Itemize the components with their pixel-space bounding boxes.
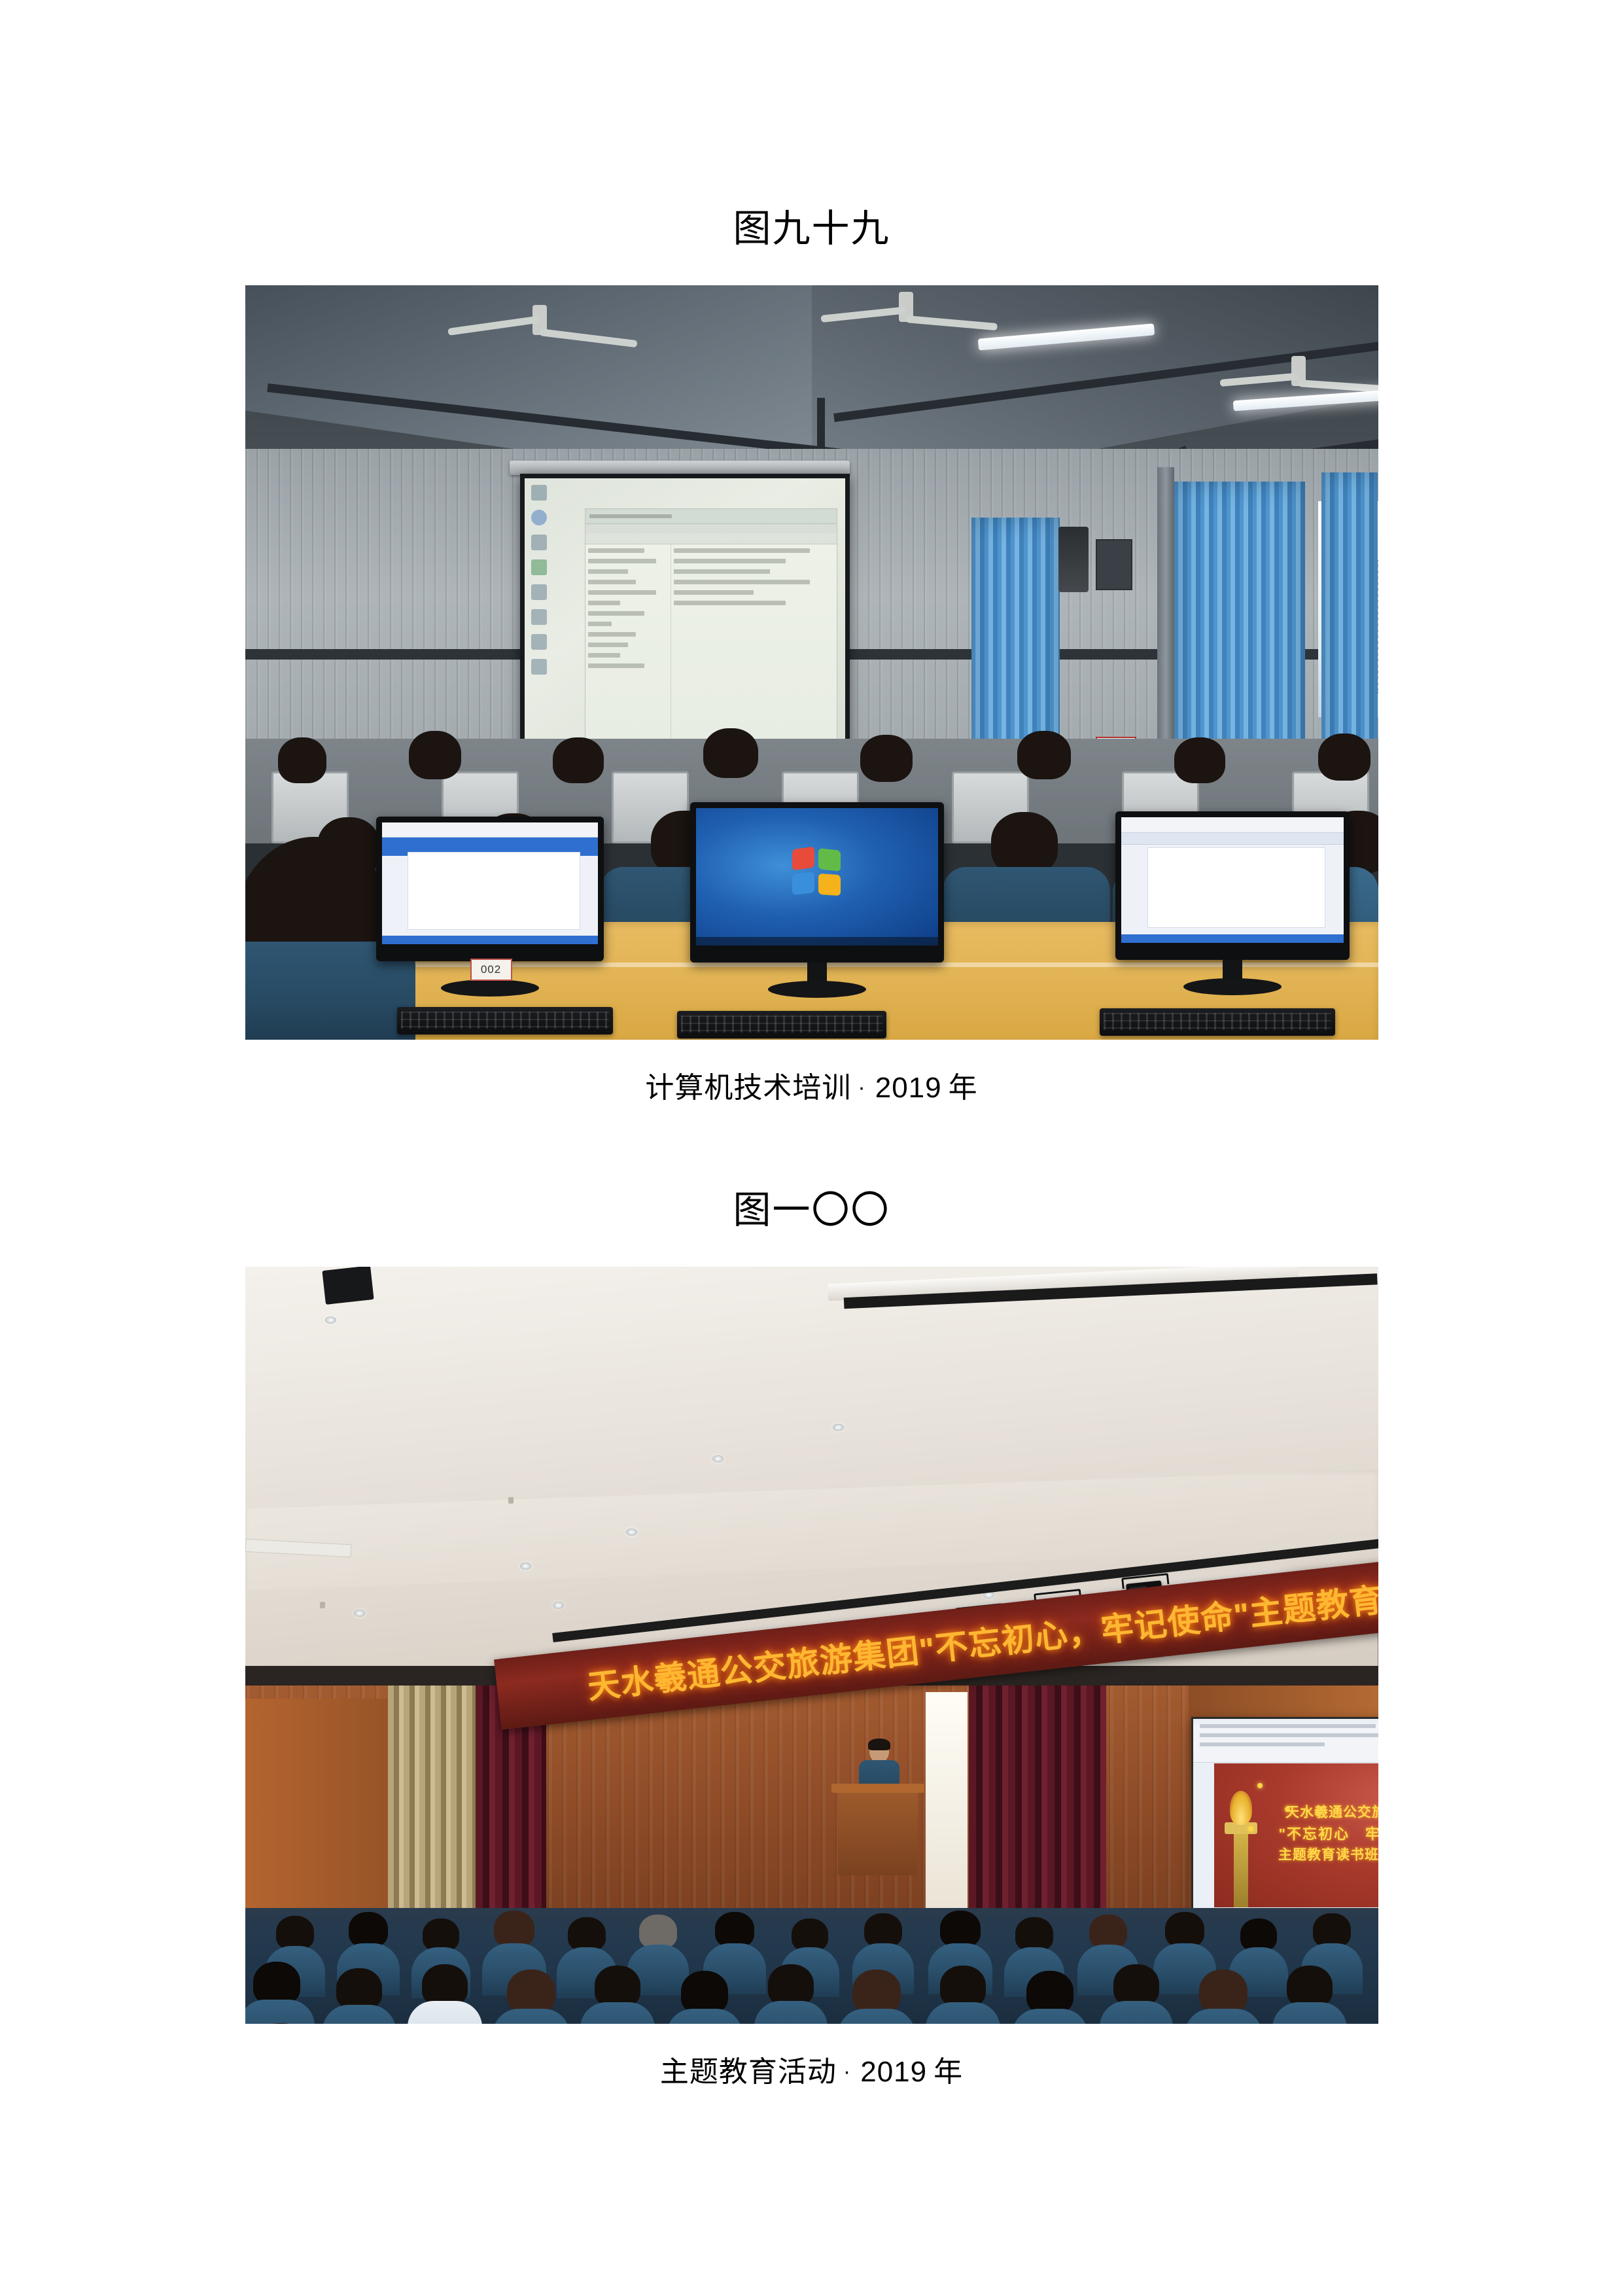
lcd-monitor bbox=[1115, 811, 1350, 960]
caption-title-99: 计算机技术培训 bbox=[645, 1072, 851, 1104]
slide-line-3: 主题教育读书班专题讲座 bbox=[1251, 1846, 1378, 1865]
windows-logo-icon bbox=[792, 848, 842, 895]
caption-separator-99: · bbox=[858, 1075, 865, 1100]
audience-member bbox=[1012, 1971, 1088, 2024]
audience-member bbox=[754, 1964, 828, 2024]
lcd-monitor: 002 bbox=[376, 817, 604, 961]
window-toolbar bbox=[585, 533, 837, 544]
sprinkler-head-icon bbox=[508, 1497, 514, 1504]
figure-block-99: 图九十九 bbox=[0, 196, 1623, 1107]
trainee-head bbox=[1174, 737, 1225, 783]
monitor-number-label: 002 bbox=[470, 959, 512, 981]
downlight-icon bbox=[833, 1424, 844, 1431]
keyboard bbox=[397, 1007, 613, 1034]
trainee-head bbox=[1017, 731, 1071, 779]
trainee-head bbox=[991, 812, 1058, 875]
ceiling-fan-icon bbox=[808, 292, 1004, 338]
audience-member bbox=[493, 1969, 570, 2024]
window-menubar bbox=[585, 524, 837, 533]
sprinkler-head-icon bbox=[320, 1602, 325, 1608]
theme-education-activity-photo: 天水羲通公交旅游集团"不忘初心，牢记使命"主题教育活动 bbox=[245, 1267, 1378, 2024]
downlight-icon bbox=[354, 1610, 365, 1617]
ceiling-fan-icon bbox=[442, 305, 638, 357]
keyboard bbox=[1100, 1008, 1335, 1036]
photo-2-scene: 天水羲通公交旅游集团"不忘初心，牢记使命"主题教育活动 bbox=[245, 1267, 1378, 2024]
trainee-head bbox=[860, 735, 913, 782]
lcd-monitor bbox=[690, 802, 944, 963]
audience-member bbox=[1272, 1966, 1347, 2024]
figure-caption-99: 计算机技术培训·2019年 bbox=[0, 1069, 1623, 1107]
wall-speaker bbox=[1058, 527, 1089, 592]
downlight-icon bbox=[712, 1455, 724, 1462]
trainee-head bbox=[409, 731, 461, 779]
caption-year-100: 2019 bbox=[860, 2056, 927, 2088]
figure-block-100: 图一〇〇 bbox=[0, 1178, 1623, 2091]
caption-separator-100: · bbox=[843, 2059, 851, 2084]
figure-caption-100: 主题教育活动·2019年 bbox=[0, 2053, 1623, 2091]
audience-member bbox=[323, 1968, 396, 2024]
keyboard bbox=[677, 1011, 886, 1038]
audience-member bbox=[245, 2023, 330, 2024]
slide-line-1: 天水羲通公交旅游集团 bbox=[1251, 1803, 1378, 1822]
slide-line-2: "不忘初心 牢记使命" bbox=[1251, 1824, 1378, 1843]
monitor-screen bbox=[1121, 817, 1344, 943]
caption-title-100: 主题教育活动 bbox=[660, 2056, 837, 2088]
audience-member bbox=[580, 1966, 655, 2024]
audience-member bbox=[1185, 1969, 1262, 2024]
audience-member bbox=[1100, 1964, 1173, 2024]
monitor-screen-windows7 bbox=[696, 808, 938, 945]
monitor-screen bbox=[382, 822, 598, 944]
downlight-icon bbox=[626, 1528, 637, 1536]
wall-equipment-box bbox=[1096, 539, 1132, 590]
downlight-icon bbox=[520, 1563, 531, 1570]
computer-technology-training-photo: 002 bbox=[245, 285, 1378, 1040]
podium bbox=[838, 1790, 918, 1875]
caption-unit-100: 年 bbox=[934, 2056, 963, 2088]
trainee-head bbox=[1318, 733, 1370, 781]
star-sparkle-icon bbox=[1257, 1783, 1263, 1788]
audience-member bbox=[408, 1964, 482, 2024]
figure-heading-99: 图九十九 bbox=[0, 196, 1623, 262]
figure-heading-100: 图一〇〇 bbox=[0, 1178, 1623, 1243]
audience-member bbox=[926, 1966, 1000, 2024]
audience-member bbox=[667, 1971, 742, 2024]
downlight-icon bbox=[325, 1316, 336, 1324]
audience-seating bbox=[245, 1908, 1378, 2024]
caption-unit-99: 年 bbox=[949, 1072, 978, 1104]
audience-member bbox=[245, 1962, 315, 2024]
trainee-head bbox=[703, 728, 758, 778]
party-education-slide: 天水羲通公交旅游集团 "不忘初心 牢记使命" 主题教育读书班专题讲座 bbox=[1214, 1763, 1378, 1907]
presentation-toolbar bbox=[1193, 1724, 1378, 1763]
document-page: 图九十九 bbox=[0, 0, 1623, 2296]
photo-1-scene: 002 bbox=[245, 285, 1378, 1040]
downlight-icon bbox=[553, 1602, 564, 1609]
projection-screen: 天水羲通公交旅游集团 "不忘初心 牢记使命" 主题教育读书班专题讲座 bbox=[1191, 1717, 1378, 1929]
ceiling-projector bbox=[322, 1267, 374, 1305]
audience-member bbox=[838, 1969, 915, 2024]
caption-year-99: 2019 bbox=[875, 1072, 942, 1104]
projector-screen-housing bbox=[510, 461, 850, 475]
window-titlebar bbox=[585, 509, 837, 524]
slide-text-block: 天水羲通公交旅游集团 "不忘初心 牢记使命" 主题教育读书班专题讲座 bbox=[1251, 1803, 1378, 1865]
trainee-head bbox=[278, 737, 326, 783]
trainee-head bbox=[553, 737, 604, 783]
